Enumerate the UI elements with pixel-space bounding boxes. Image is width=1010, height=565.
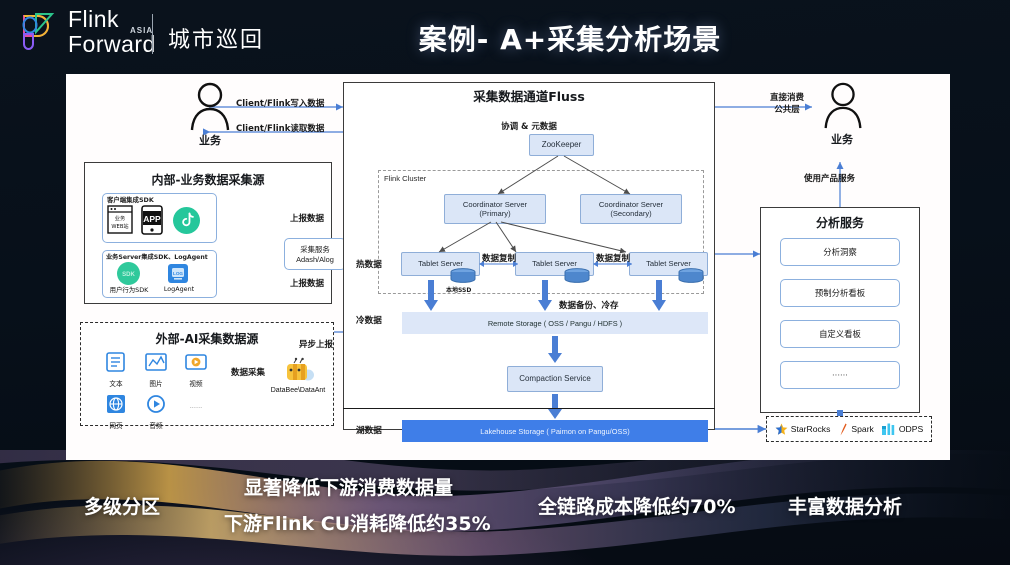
remote-storage-box: Remote Storage ( OSS / Pangu / HDFS )	[402, 312, 708, 334]
web-site-icon: 业务 WEB站	[107, 205, 133, 240]
replication-label-1: 数据复制	[482, 252, 516, 264]
spark-icon	[838, 423, 848, 436]
flink-cluster-label: Flink Cluster	[384, 174, 426, 183]
more-icon-label: ······	[184, 404, 208, 412]
caption-2: 下游Flink CU消耗降低约35%	[224, 509, 491, 536]
engine-spark: Spark	[838, 423, 873, 436]
tier-hot-label: 热数据	[356, 258, 382, 270]
left-actor-label: 业务	[184, 132, 236, 148]
audio-icon-label: 音频	[144, 420, 168, 430]
use-product-label: 使用产品服务	[804, 172, 855, 184]
replication-label-2: 数据复制	[596, 252, 630, 264]
header-divider	[152, 14, 153, 54]
analysis-item-0[interactable]: 分析洞察	[780, 238, 900, 266]
disk-icon-2	[563, 268, 591, 290]
backup-label: 数据备份、冷存	[559, 299, 619, 311]
analysis-item-0-label: 分析洞察	[823, 246, 857, 258]
svg-text:业务: 业务	[115, 214, 125, 222]
sdk-server-box-title: 业务Server集成SDK、LogAgent	[106, 252, 208, 261]
tour-label: 城市巡回	[168, 22, 264, 54]
sdk-client-box-title: 客户端集成SDK	[107, 195, 154, 204]
analysis-item-2-label: 自定义看板	[819, 328, 861, 340]
svg-text:SDK: SDK	[122, 272, 135, 278]
engine-odps-label: ODPS	[899, 424, 923, 434]
svg-text:WEB站: WEB站	[111, 222, 128, 230]
collect-service-line-2: Adash/Alog	[296, 255, 334, 264]
arrow-label-write: Client/Flink写入数据	[236, 97, 324, 109]
webpage-icon: 网页	[104, 394, 128, 430]
logagent-icon-label: LogAgent	[154, 285, 204, 293]
collect-arrow-label: 数据采集	[231, 366, 265, 378]
audio-icon: 音频	[144, 394, 168, 430]
more-icon: ······	[184, 394, 208, 430]
douyin-icon	[173, 207, 200, 239]
report-label-bottom: 上报数据	[290, 277, 324, 289]
lakehouse-storage-box: Lakehouse Storage ( Paimon on Pangu/OSS)	[402, 420, 708, 442]
disk-icon-3	[677, 268, 705, 290]
coordinator-primary-line2: (Primary)	[463, 209, 527, 218]
down-arrow-4	[547, 336, 563, 369]
diagram-canvas: 业务 Client/Flink写入数据 Client/Flink读取数据 内部-…	[66, 74, 950, 460]
slide-background: Flink Forward ASIA 城市巡回 案例- A+采集分析场景	[0, 0, 1010, 565]
compaction-service-box: Compaction Service	[507, 366, 603, 392]
svg-text:APP: APP	[143, 214, 161, 224]
analysis-item-2[interactable]: 自定义看板	[780, 320, 900, 348]
sdk-icon-label: 用户行为SDK	[104, 285, 154, 294]
bottom-captions: 多级分区 显著降低下游消费数据量 下游Flink CU消耗降低约35% 全链路成…	[0, 462, 1010, 565]
analysis-service-title: 分析服务	[760, 214, 920, 231]
analysis-item-3[interactable]: ······	[780, 361, 900, 389]
flink-forward-mark	[14, 8, 58, 56]
starrocks-icon	[775, 423, 788, 436]
report-label-top: 上报数据	[290, 212, 324, 224]
video-icon-label: 视频	[184, 378, 208, 388]
external-source-title: 外部-AI采集数据源	[80, 330, 334, 347]
arrow-label-read: Client/Flink读取数据	[236, 122, 324, 134]
consume-label-line1: 直接消费	[758, 91, 816, 103]
app-icon: APP	[140, 205, 164, 240]
fluss-panel-title: 采集数据通道Fluss	[343, 86, 715, 105]
tier-lake-label: 湖数据	[356, 424, 382, 436]
brand-line-2: Forward	[68, 33, 156, 56]
webpage-icon-label: 网页	[104, 420, 128, 430]
analysis-item-1-label: 预制分析看板	[815, 287, 865, 299]
right-actor-avatar	[818, 80, 868, 130]
lake-tier-divider	[343, 408, 715, 409]
databee-icon	[277, 356, 317, 391]
engines-panel: StarRocks Spark ODPS	[766, 416, 932, 442]
collect-service-line-1: 采集服务	[300, 244, 330, 255]
engine-starrocks: StarRocks	[775, 423, 831, 436]
caption-4: 丰富数据分析	[788, 492, 902, 519]
coordinator-secondary: Coordinator Server (Secondary)	[580, 194, 682, 224]
analysis-item-3-label: ······	[832, 370, 848, 380]
caption-3: 全链路成本降低约70%	[538, 492, 735, 519]
slide-header: Flink Forward ASIA 城市巡回 案例- A+采集分析场景	[0, 0, 1010, 74]
page-title: 案例- A+采集分析场景	[360, 18, 780, 58]
video-icon: 视频	[184, 352, 208, 388]
coordinator-secondary-line2: (Secondary)	[599, 209, 663, 218]
left-actor-avatar	[184, 80, 236, 132]
databee-label: DataBee\DataAnt	[260, 387, 336, 394]
engine-spark-label: Spark	[851, 424, 873, 434]
coordinator-primary: Coordinator Server (Primary)	[444, 194, 546, 224]
tier-cold-label: 冷数据	[356, 314, 382, 326]
image-icon: 图片	[144, 352, 168, 388]
consume-label-line2: 公共层	[758, 103, 816, 115]
image-icon-label: 图片	[144, 378, 168, 388]
analysis-item-1[interactable]: 预制分析看板	[780, 279, 900, 307]
async-report-label-external: 异步上报	[299, 338, 333, 350]
zookeeper-node: ZooKeeper	[529, 134, 594, 156]
odps-icon	[882, 423, 896, 436]
brand-region-label: ASIA	[130, 26, 153, 35]
caption-1: 显著降低下游消费数据量	[244, 473, 453, 500]
svg-text:LOG: LOG	[173, 271, 183, 276]
coordinator-secondary-line1: Coordinator Server	[599, 200, 663, 209]
text-icon: 文本	[104, 352, 128, 388]
engine-odps: ODPS	[882, 423, 923, 436]
external-source-icon-grid: 文本 图片 视频	[104, 352, 222, 430]
internal-source-title: 内部-业务数据采集源	[84, 171, 332, 188]
collect-service-box: 采集服务 Adash/Alog	[284, 238, 346, 270]
text-icon-label: 文本	[104, 378, 128, 388]
caption-0: 多级分区	[84, 492, 160, 519]
local-ssd-label: 本地SSD	[446, 285, 471, 294]
coordinator-primary-line1: Coordinator Server	[463, 200, 527, 209]
zookeeper-caption: 协调 & 元数据	[343, 120, 715, 132]
right-actor-label: 业务	[816, 131, 868, 147]
engine-starrocks-label: StarRocks	[791, 424, 831, 434]
